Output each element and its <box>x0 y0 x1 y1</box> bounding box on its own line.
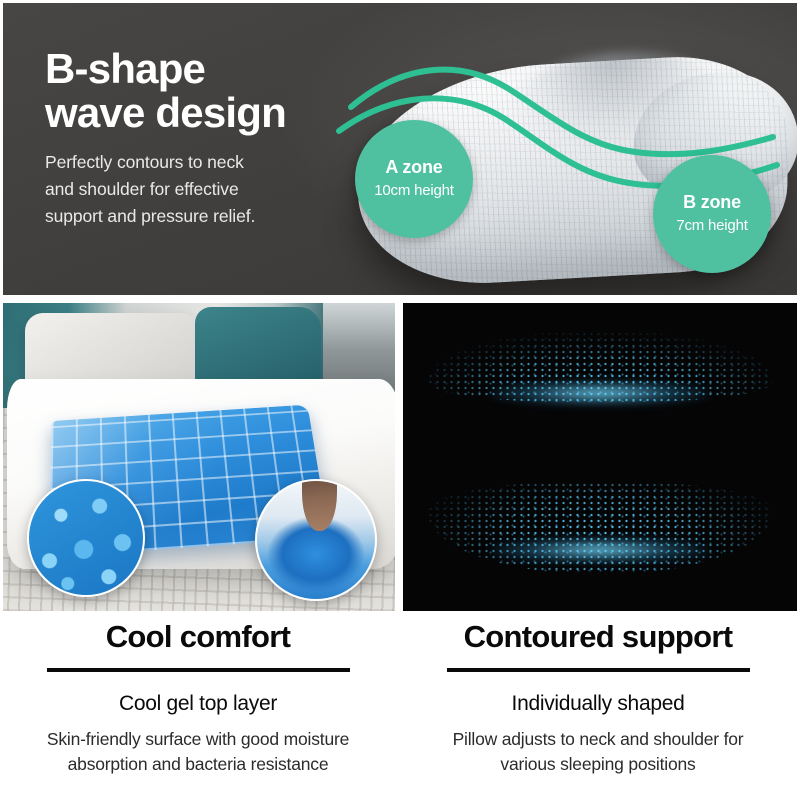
feature-column-contoured-support: Contoured support Individually shaped Pi… <box>400 620 796 777</box>
product-feature-panel: A zone 10cm height B zone 7cm height B-s… <box>0 0 800 800</box>
photo-mesh-profiles <box>403 303 797 611</box>
feature-title-left: Cool comfort <box>0 620 396 654</box>
feature-column-cool-comfort: Cool comfort Cool gel top layer Skin-fri… <box>0 620 396 777</box>
feature-body-left: Skin-friendly surface with good moisture… <box>0 727 396 777</box>
feature-title-right: Contoured support <box>400 620 796 654</box>
hero-copy-block: B-shape wave design Perfectly contours t… <box>45 47 365 229</box>
zone-a-name: A zone <box>385 158 442 178</box>
feature-subtitle-right: Individually shaped <box>400 691 796 716</box>
zone-badge-a: A zone 10cm height <box>355 120 473 238</box>
zone-badge-b: B zone 7cm height <box>653 155 771 273</box>
inset-gel-beads-closeup <box>27 479 145 597</box>
inset-finger-press-closeup <box>255 479 377 601</box>
zone-a-height: 10cm height <box>374 182 454 200</box>
mesh-glow-upper <box>490 380 711 406</box>
zone-b-name: B zone <box>683 193 741 213</box>
hero-title: B-shape wave design <box>45 47 365 134</box>
feature-divider-right <box>447 668 750 672</box>
bedroom-scene <box>3 303 395 611</box>
hero-subtitle: Perfectly contours to neck and shoulder … <box>45 149 365 229</box>
photo-gel-pillow <box>3 303 395 611</box>
mesh-scene <box>403 303 797 611</box>
feature-body-right: Pillow adjusts to neck and shoulder for … <box>400 727 796 777</box>
feature-divider-left <box>47 668 350 672</box>
mesh-glow-lower <box>490 537 711 563</box>
hero-panel: A zone 10cm height B zone 7cm height B-s… <box>3 3 797 295</box>
feature-subtitle-left: Cool gel top layer <box>0 691 396 716</box>
zone-b-height: 7cm height <box>676 217 747 235</box>
finger-shape <box>302 479 337 531</box>
